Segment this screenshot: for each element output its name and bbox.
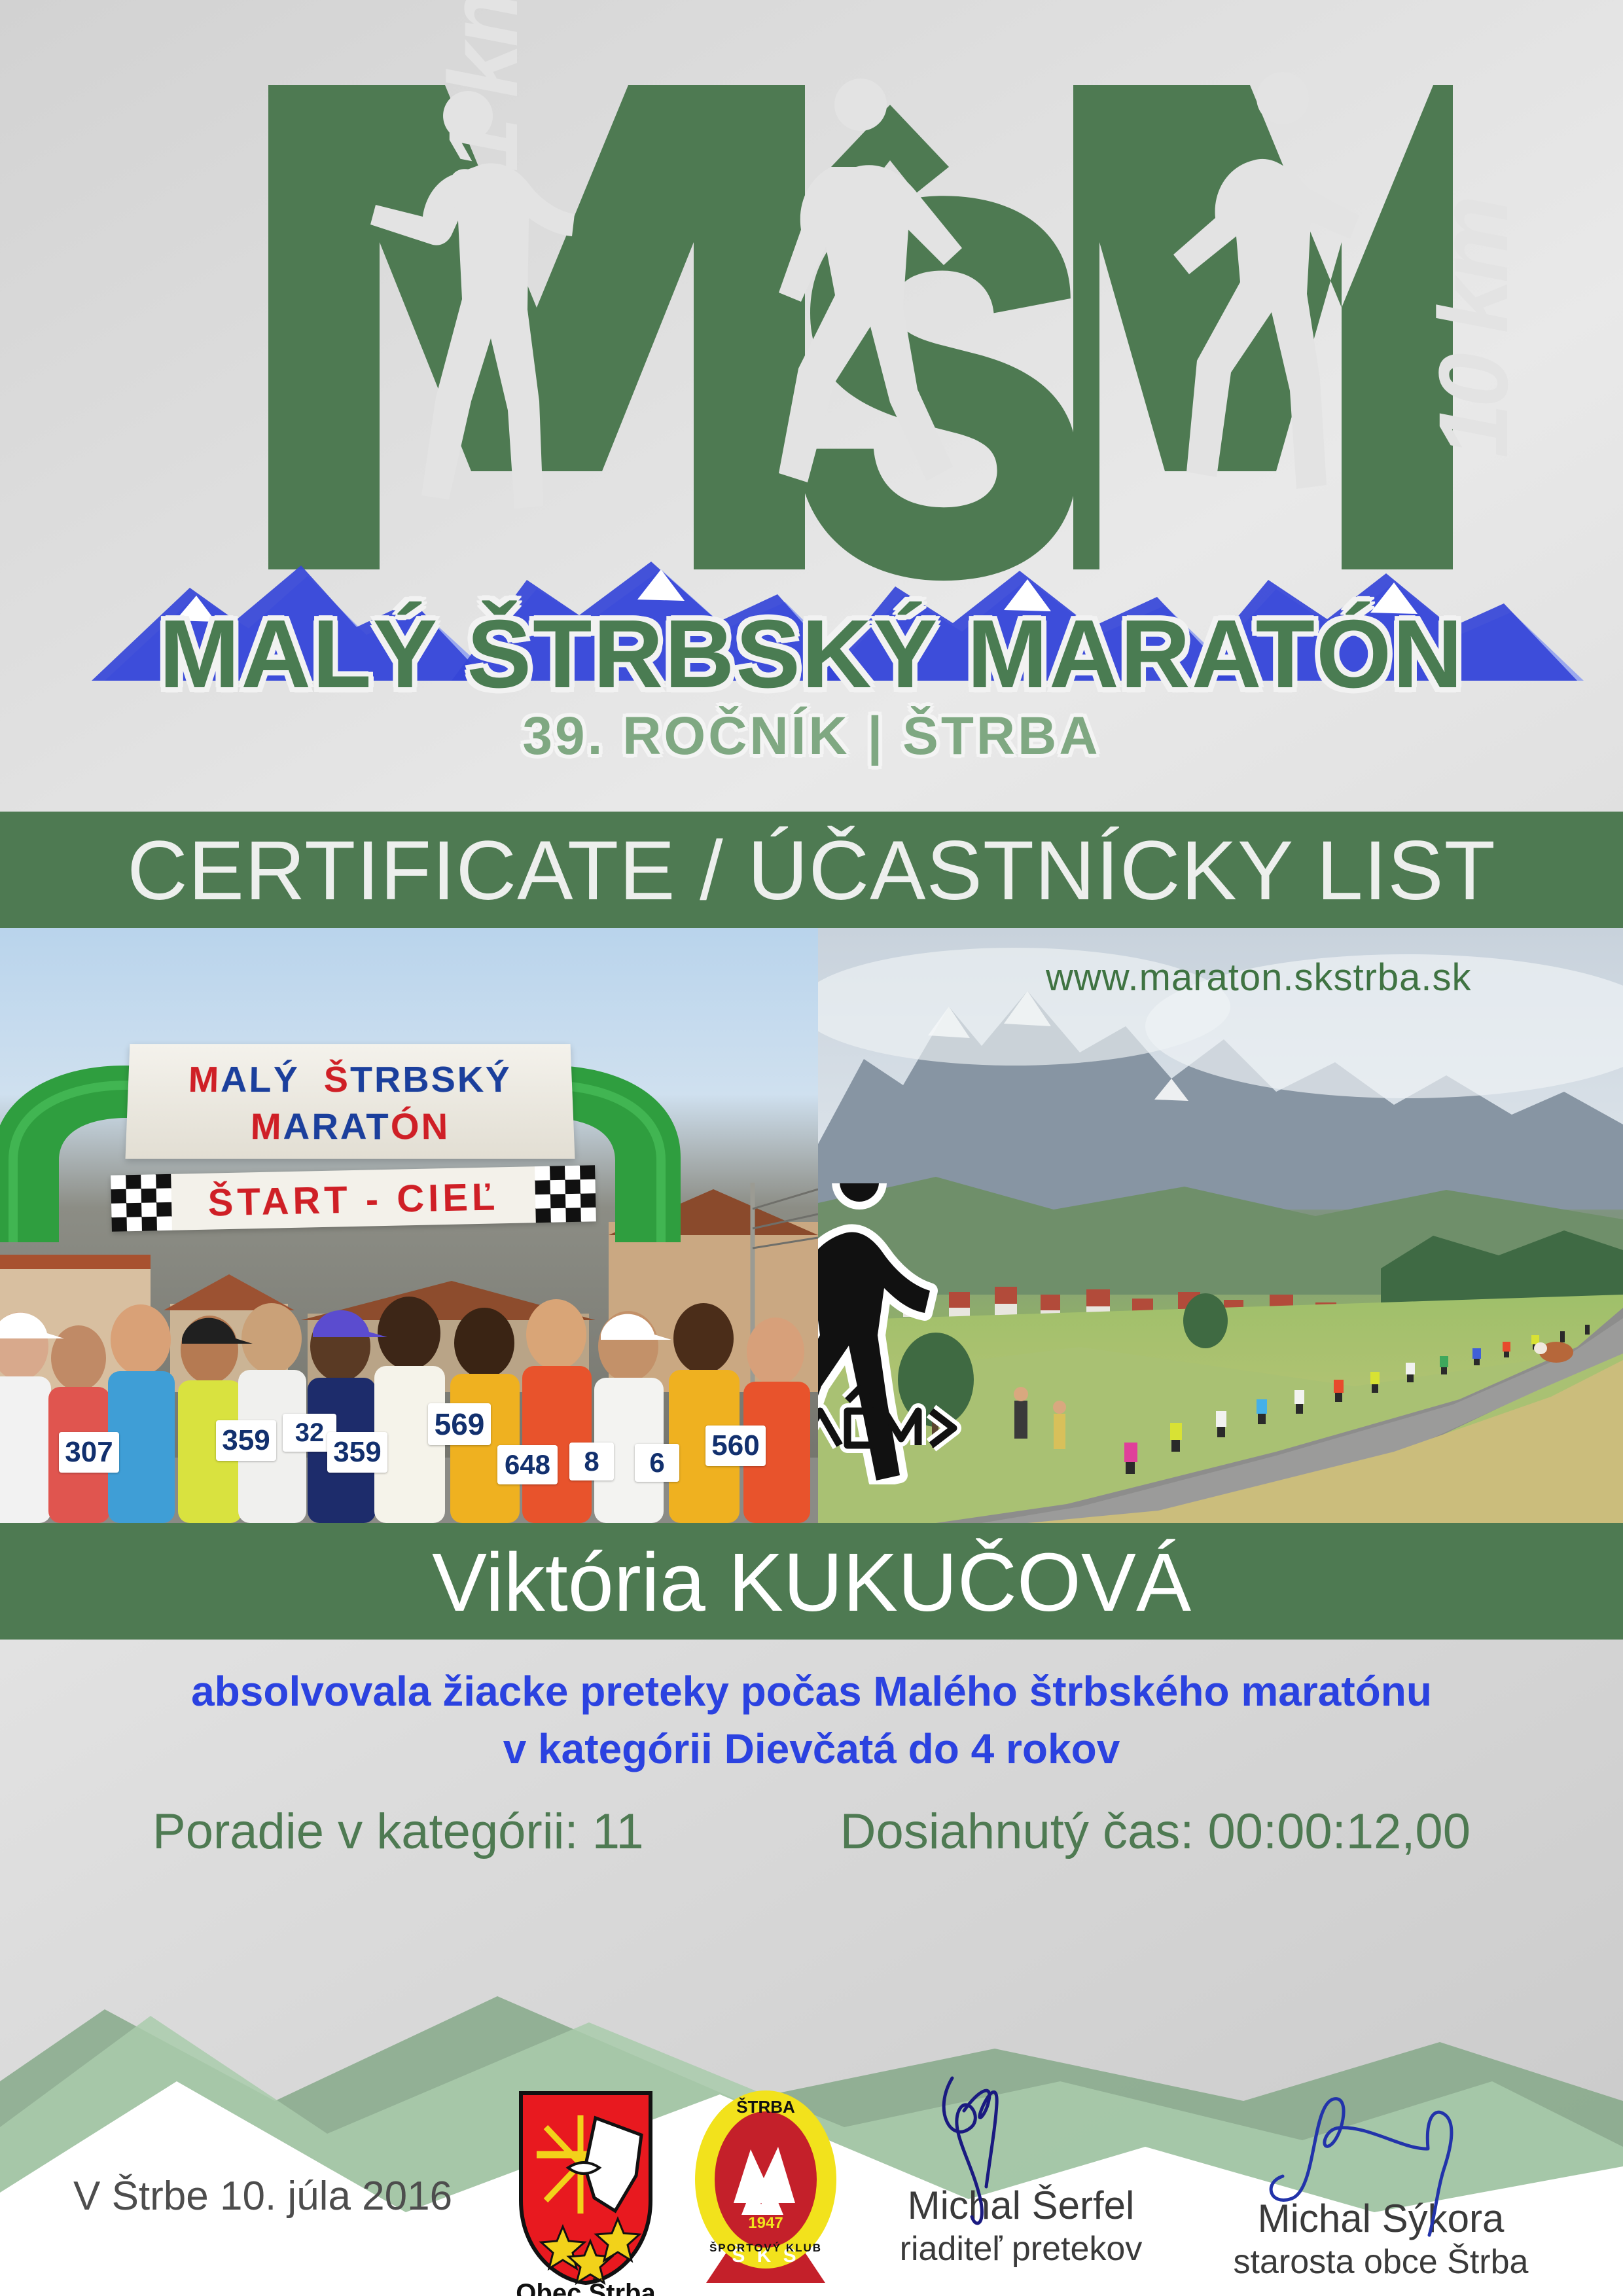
description-line-2: v kategórii Dievčatá do 4 rokov [0, 1720, 1623, 1778]
photo-tatras-panorama: www.maraton.skstrba.sk [818, 928, 1623, 1523]
sks-year: 1947 [748, 2214, 783, 2232]
photo-start-line: MALÝ ŠTRBSKÝ MARATÓN ŠTART - CIEĽ [0, 928, 818, 1523]
footer: V Štrbe 10. júla 2016 Obec Štrba ŠTRBA 1 [0, 2049, 1623, 2296]
msm-logo: 31 km 10 km [170, 26, 1453, 589]
participant-name-band: Viktória KUKUČOVÁ [0, 1523, 1623, 1640]
bib-number: 648 [497, 1445, 558, 1484]
bib-number: 569 [428, 1403, 491, 1445]
certificate-page: 31 km 10 km MALÝ ŠTRBSKÝ MARATÓN 39. ROČ… [0, 0, 1623, 2296]
bib-number: 560 [705, 1426, 766, 1466]
event-title: MALÝ ŠTRBSKÝ MARATÓN [0, 599, 1623, 710]
distance-left-label: 31 km [427, 0, 540, 223]
results-row: Poradie v kategórii: 11 Dosiahnutý čas: … [0, 1803, 1623, 1860]
event-subtitle: 39. ROČNÍK | ŠTRBA [0, 706, 1623, 767]
start-finish-text: ŠTART - CIEĽ [111, 1173, 596, 1227]
bib-number: 8 [569, 1443, 614, 1480]
website-url[interactable]: www.maraton.skstrba.sk [1046, 956, 1472, 999]
time-result: Dosiahnutý čas: 00:00:12,00 [840, 1803, 1471, 1860]
signature-block-director: Michal Šerfel riaditeľ pretekov [838, 2183, 1204, 2269]
time-label: Dosiahnutý čas: [840, 1804, 1194, 1859]
sks-arc-text: ŠPORTOVÝ KLUB [709, 2242, 822, 2254]
rank-result: Poradie v kategórii: 11 [152, 1803, 644, 1860]
msm-runner-emblem-icon [818, 1183, 965, 1484]
bib-number: 359 [216, 1420, 276, 1461]
description-line-1: absolvovala žiacke preteky počas Malého … [0, 1662, 1623, 1720]
start-finish-banner: ŠTART - CIEĽ [111, 1165, 596, 1231]
sks-strba-crest-icon: ŠTRBA 1947 Š K Š ŠPORTOVÝ KLUB [690, 2087, 841, 2283]
obec-strba-label: Obec Štrba [504, 2279, 668, 2296]
signature-role: starosta obce Štrba [1198, 2242, 1564, 2282]
arch-banner-line1: MALÝ ŠTRBSKÝ [128, 1058, 573, 1100]
participant-description: absolvovala žiacke preteky počas Malého … [0, 1662, 1623, 1778]
bib-number: 359 [327, 1432, 387, 1473]
obec-strba-crest-icon [517, 2089, 654, 2286]
runner-crowd-icon [0, 1248, 818, 1523]
arch-banner-line2: MARATÓN [126, 1105, 575, 1147]
time-value: 00:00:12,00 [1207, 1804, 1471, 1859]
signature-role: riaditeľ pretekov [838, 2229, 1204, 2269]
msm-letters-icon [170, 26, 1453, 589]
distance-right-label: 10 km [1417, 200, 1530, 458]
bib-number: 307 [59, 1432, 119, 1473]
rank-label: Poradie v kategórii: [152, 1804, 579, 1859]
certificate-heading: CERTIFICATE / ÚČASTNÍCKY LIST [0, 823, 1623, 919]
sks-top-text: ŠTRBA [736, 2097, 795, 2117]
signature-mark-icon [913, 2065, 1129, 2229]
header-logo-area: 31 km 10 km MALÝ ŠTRBSKÝ MARATÓN 39. ROČ… [0, 0, 1623, 812]
rank-value: 11 [592, 1804, 644, 1859]
bib-number: 6 [635, 1444, 679, 1482]
signature-block-mayor: Michal Sýkora starosta obce Štrba [1198, 2196, 1564, 2282]
certificate-heading-band: CERTIFICATE / ÚČASTNÍCKY LIST [0, 812, 1623, 928]
arch-banner: MALÝ ŠTRBSKÝ MARATÓN [125, 1044, 575, 1159]
issue-date: V Štrbe 10. júla 2016 [73, 2173, 452, 2219]
photo-strip: MALÝ ŠTRBSKÝ MARATÓN ŠTART - CIEĽ [0, 928, 1623, 1523]
participant-name: Viktória KUKUČOVÁ [0, 1535, 1623, 1630]
signature-mark-icon [1257, 2078, 1505, 2242]
